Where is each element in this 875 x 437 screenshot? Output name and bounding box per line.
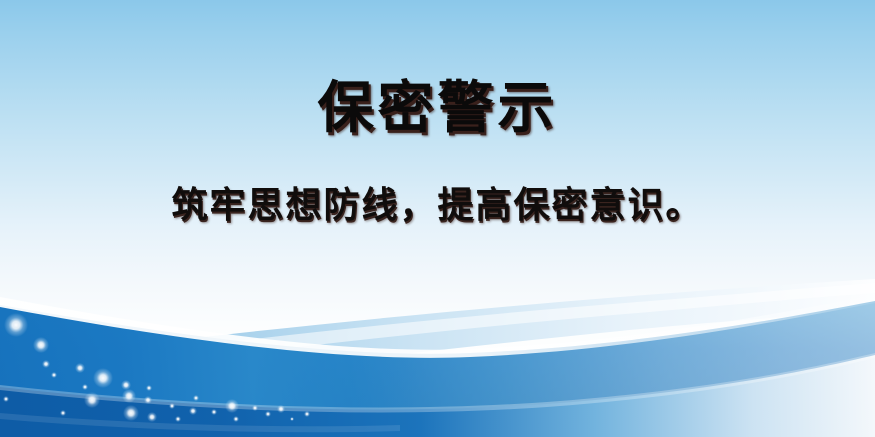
blue-ribbon-wave-graphic <box>0 267 875 437</box>
secrecy-warning-banner: 保密警示 筑牢思想防线，提高保密意识。 <box>0 0 875 437</box>
banner-text-block: 保密警示 筑牢思想防线，提高保密意识。 <box>0 0 875 227</box>
page-subtitle: 筑牢思想防线，提高保密意识。 <box>0 140 875 227</box>
page-title: 保密警示 <box>0 0 875 140</box>
